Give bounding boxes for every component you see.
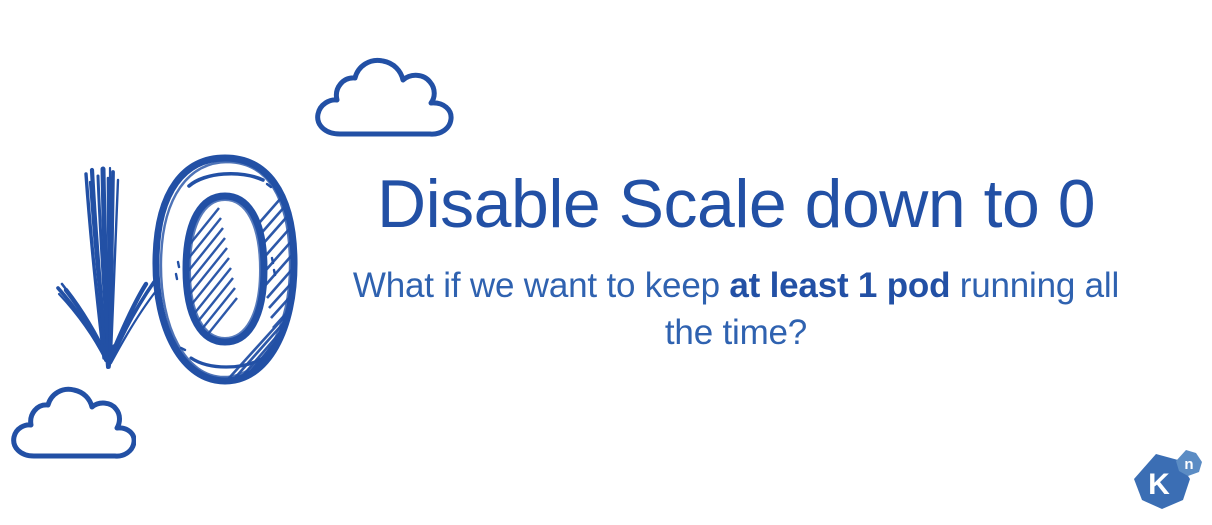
logo-letter-n: n bbox=[1184, 456, 1193, 473]
text-block: Disable Scale down to 0 What if we want … bbox=[330, 168, 1142, 357]
subtitle-emphasis: at least 1 pod bbox=[729, 266, 950, 305]
slide-canvas: Disable Scale down to 0 What if we want … bbox=[0, 0, 1212, 525]
subtitle: What if we want to keep at least 1 pod r… bbox=[330, 263, 1142, 356]
page-title: Disable Scale down to 0 bbox=[330, 168, 1142, 241]
cloud-icon bbox=[310, 52, 460, 152]
cloud-icon bbox=[4, 382, 136, 470]
logo-letter-k: K bbox=[1148, 468, 1170, 501]
subtitle-lead: What if we want to keep bbox=[353, 266, 730, 305]
zero-sketch-icon bbox=[145, 150, 305, 390]
knative-logo: K n bbox=[1126, 448, 1204, 520]
